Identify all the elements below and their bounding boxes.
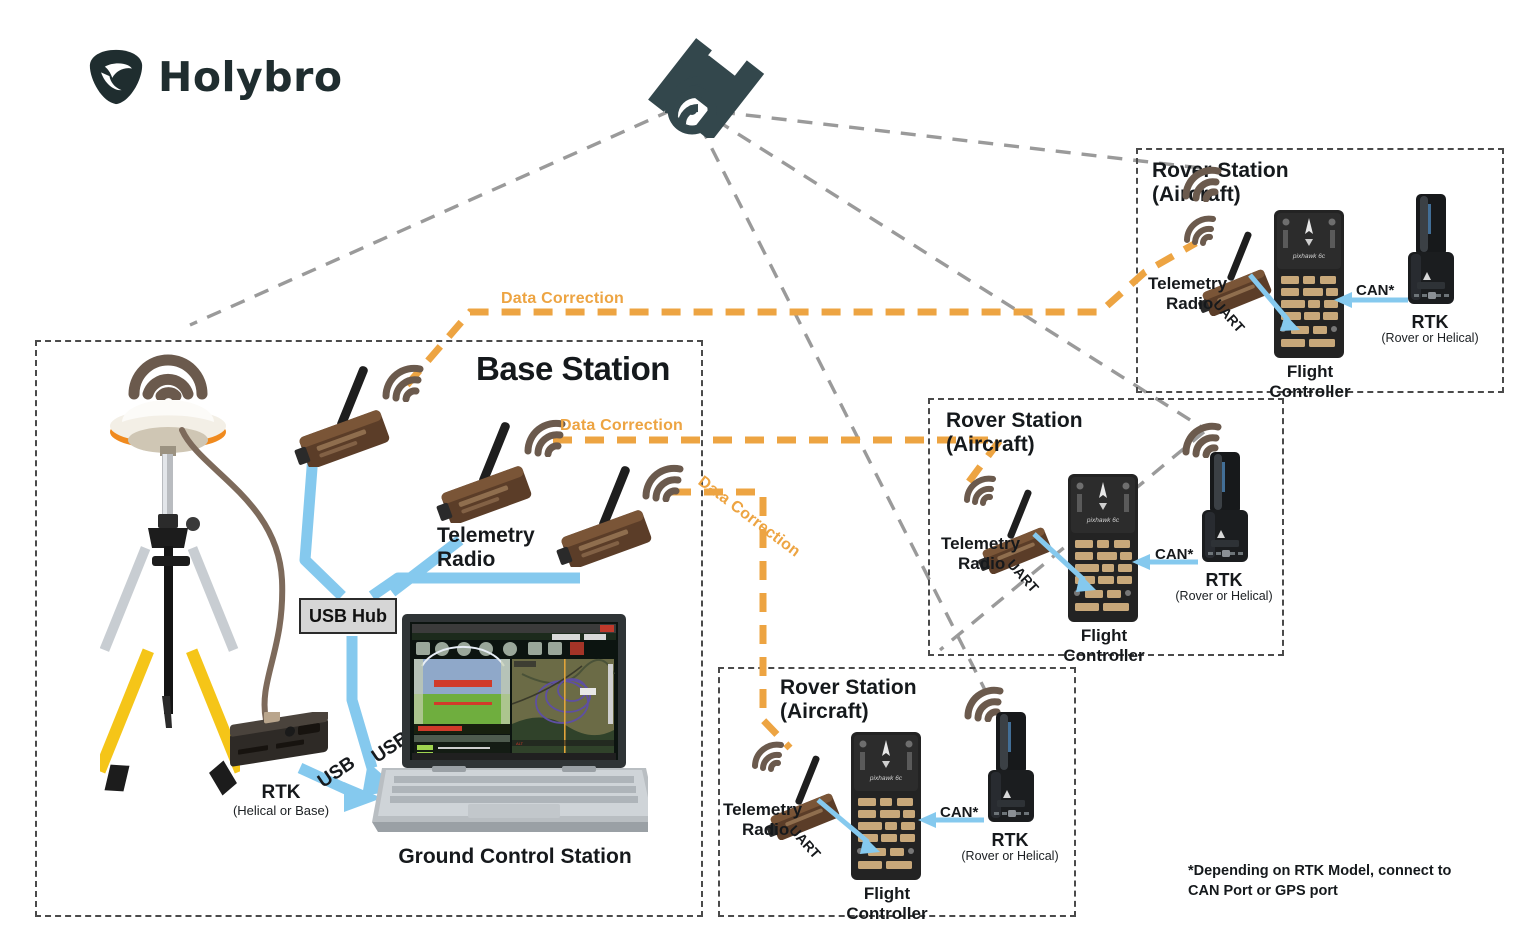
rover-1-can-label: CAN* — [1356, 282, 1394, 299]
wifi-waves-icon — [112, 348, 224, 400]
brand-logo: Holybro — [88, 46, 358, 108]
base-station-title: Base Station — [476, 350, 670, 388]
rover-station-3-title: Rover Station (Aircraft) — [780, 676, 917, 724]
flight-controller-icon: pixhawk 6c — [849, 730, 923, 882]
rover-2-rtk-sublabel: (Rover or Helical) — [1154, 589, 1294, 603]
rover-1-telemetry-label-line1: Telemetry — [1148, 274, 1227, 294]
rover-2-telemetry-label-line2: Radio — [958, 554, 1005, 574]
laptop-icon: ALT — [372, 614, 648, 840]
footnote-line1: *Depending on RTK Model, connect to — [1188, 862, 1488, 882]
base-rtk-sublabel: (Helical or Base) — [196, 803, 366, 818]
rover-3-telemetry-label-line2: Radio — [742, 820, 789, 840]
rover-3-can-label: CAN* — [940, 804, 978, 821]
svg-text:pixhawk 6c: pixhawk 6c — [1292, 253, 1326, 260]
signal-waves-icon — [638, 460, 694, 502]
rover-station-2-title: Rover Station (Aircraft) — [946, 409, 1083, 457]
diagram-canvas: Holybro Base Station — [0, 0, 1520, 945]
base-telemetry-radio-label-line1: Telemetry — [437, 524, 535, 548]
flight-controller-icon: pixhawk 6c — [1066, 472, 1140, 624]
rover-1-telemetry-label-line2: Radio — [1166, 294, 1213, 314]
brand-name: Holybro — [158, 53, 343, 101]
rover-3-telemetry-label-line1: Telemetry — [723, 800, 802, 820]
sat-link-rover2 — [716, 120, 1206, 430]
ground-control-station-label: Ground Control Station — [395, 845, 635, 869]
rover-3-flight-controller-label: Flight Controller — [822, 884, 952, 923]
rover-3-rtk-label: RTK — [958, 830, 1062, 851]
rtk-rover-module-icon — [1192, 452, 1256, 572]
svg-text:pixhawk 6c: pixhawk 6c — [869, 775, 903, 782]
rtk-rover-module-icon — [1398, 194, 1462, 314]
satellite-icon — [640, 28, 780, 138]
rtk-rover-module-icon — [978, 712, 1042, 832]
signal-waves-icon — [378, 360, 434, 402]
svg-text:pixhawk 6c: pixhawk 6c — [1086, 517, 1120, 524]
base-telemetry-radio-label-line2: Radio — [437, 548, 495, 572]
rover-1-rtk-sublabel: (Rover or Helical) — [1360, 331, 1500, 345]
rover-1-rtk-label: RTK — [1378, 312, 1482, 333]
footnote: *Depending on RTK Model, connect to CAN … — [1188, 862, 1488, 901]
holybro-shield-icon — [88, 48, 144, 106]
flight-controller-icon: pixhawk 6c — [1272, 208, 1346, 360]
footnote-line2: CAN Port or GPS port — [1188, 882, 1488, 902]
rover-station-2-title-line2: (Aircraft) — [946, 433, 1083, 457]
rover-1-flight-controller-label: Flight Controller — [1245, 362, 1375, 401]
rover-2-can-label: CAN* — [1155, 546, 1193, 563]
wifi-waves-icon — [1180, 162, 1232, 202]
rover-3-rtk-sublabel: (Rover or Helical) — [940, 849, 1080, 863]
rover-station-3-title-line2: (Aircraft) — [780, 700, 917, 724]
rover-2-telemetry-label-line1: Telemetry — [941, 534, 1020, 554]
svg-text:ALT: ALT — [516, 741, 524, 746]
rover-2-rtk-label: RTK — [1172, 570, 1276, 591]
data-correction-label-diagonal: Data Correction — [694, 473, 803, 561]
rover-station-3-title-line1: Rover Station — [780, 676, 917, 700]
rover-station-2-title-line1: Rover Station — [946, 409, 1083, 433]
data-correction-label-top: Data Correction — [501, 290, 624, 308]
data-correction-label-middle: Data Correction — [560, 417, 683, 435]
rover-2-flight-controller-label: Flight Controller — [1039, 626, 1169, 665]
